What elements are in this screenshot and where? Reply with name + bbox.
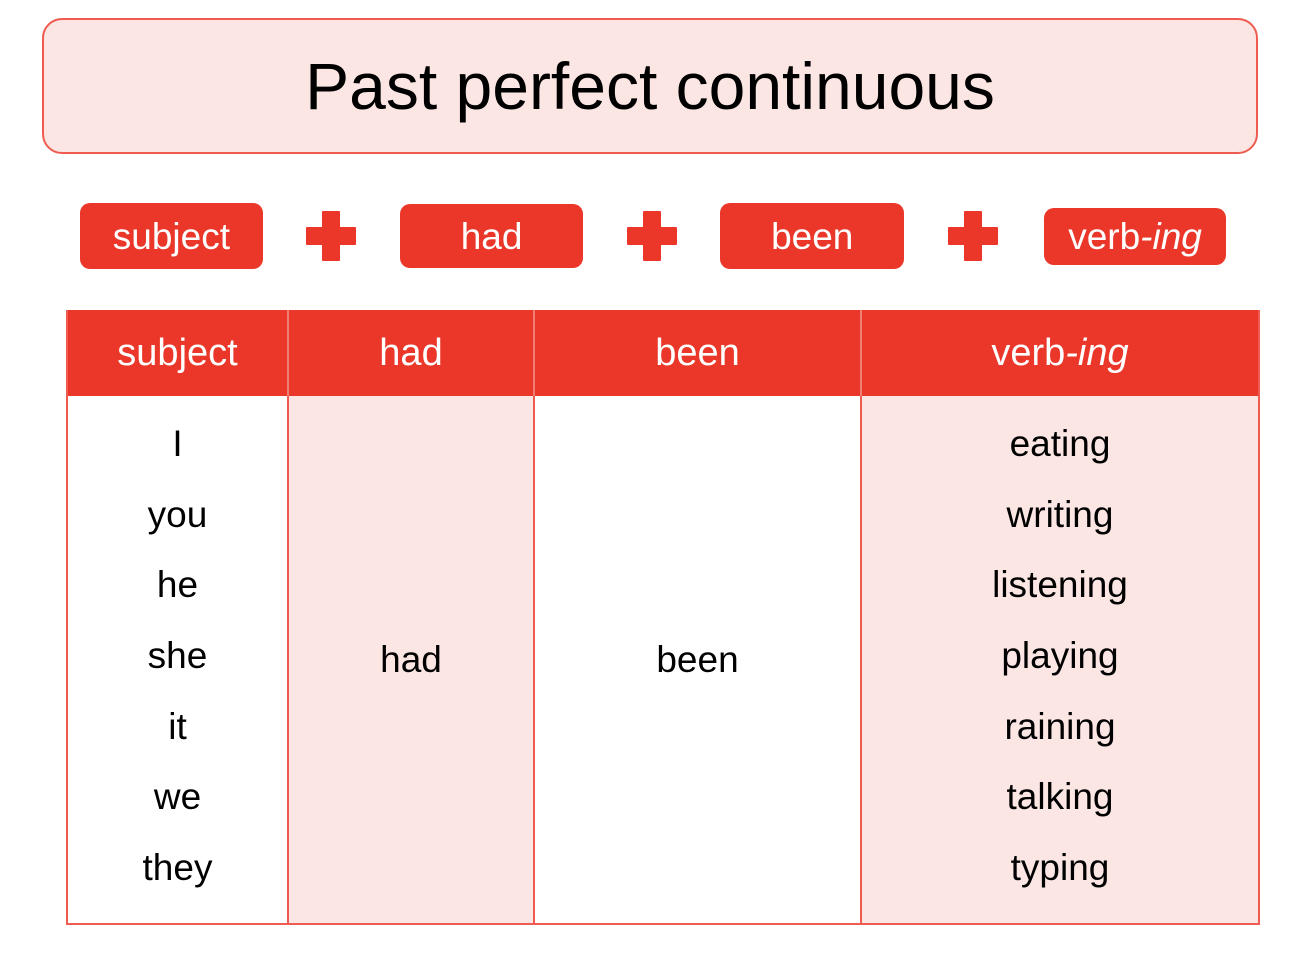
table-column-subject: I you he she it we they [68, 396, 287, 923]
table-body: I you he she it we they had been [68, 396, 1258, 923]
table-header-had: had [287, 310, 533, 396]
list-item: eating [1010, 408, 1111, 479]
table-header-ing-suffix: -ing [1065, 334, 1128, 372]
formula-pill-been: been [720, 203, 904, 269]
table-column-verb-ing: eating writing listening playing raining… [860, 396, 1258, 923]
list-item: I [172, 408, 182, 479]
table-header-had-label: had [379, 334, 442, 372]
list-item: she [148, 620, 208, 691]
table-header-subject-label: subject [117, 334, 237, 372]
formula-row: subject had been verb -ing [80, 200, 1226, 272]
table-column-had: had [287, 396, 533, 923]
list-item: we [154, 762, 201, 833]
subject-list: I you he she it we they [68, 396, 287, 923]
list-item: listening [992, 549, 1128, 620]
verb-ing-list: eating writing listening playing raining… [862, 396, 1258, 923]
formula-pill-verb-label: verb [1068, 218, 1140, 255]
plus-icon [948, 211, 998, 261]
been-cell: been [535, 396, 860, 923]
page-title: Past perfect continuous [305, 53, 995, 119]
list-item: you [148, 479, 208, 550]
list-item: raining [1004, 691, 1115, 762]
table-header-verb-label: verb [991, 334, 1065, 372]
formula-pill-verb-ing-suffix: -ing [1140, 218, 1202, 255]
conjugation-table: subject had been verb -ing I you he she … [66, 310, 1260, 925]
table-header-been-label: been [655, 334, 740, 372]
been-value: been [656, 641, 738, 678]
table-header-subject: subject [68, 310, 287, 396]
formula-pill-been-label: been [771, 218, 853, 255]
title-banner: Past perfect continuous [42, 18, 1258, 154]
formula-pill-subject: subject [80, 203, 263, 269]
formula-pill-had-label: had [461, 218, 523, 255]
table-header-row: subject had been verb -ing [68, 310, 1258, 396]
table-column-been: been [533, 396, 860, 923]
list-item: writing [1007, 479, 1114, 550]
plus-icon [627, 211, 677, 261]
formula-pill-had: had [400, 204, 584, 268]
grammar-reference-card: Past perfect continuous subject had been… [0, 0, 1306, 974]
list-item: playing [1001, 620, 1118, 691]
plus-icon [306, 211, 356, 261]
list-item: typing [1011, 832, 1110, 903]
table-header-verb-ing: verb -ing [860, 310, 1258, 396]
formula-pill-verb-ing: verb -ing [1044, 208, 1226, 265]
list-item: talking [1007, 762, 1114, 833]
had-cell: had [289, 396, 533, 923]
had-value: had [380, 641, 442, 678]
table-header-been: been [533, 310, 860, 396]
formula-pill-subject-label: subject [113, 218, 230, 255]
list-item: they [143, 832, 213, 903]
list-item: he [157, 549, 198, 620]
list-item: it [168, 691, 187, 762]
